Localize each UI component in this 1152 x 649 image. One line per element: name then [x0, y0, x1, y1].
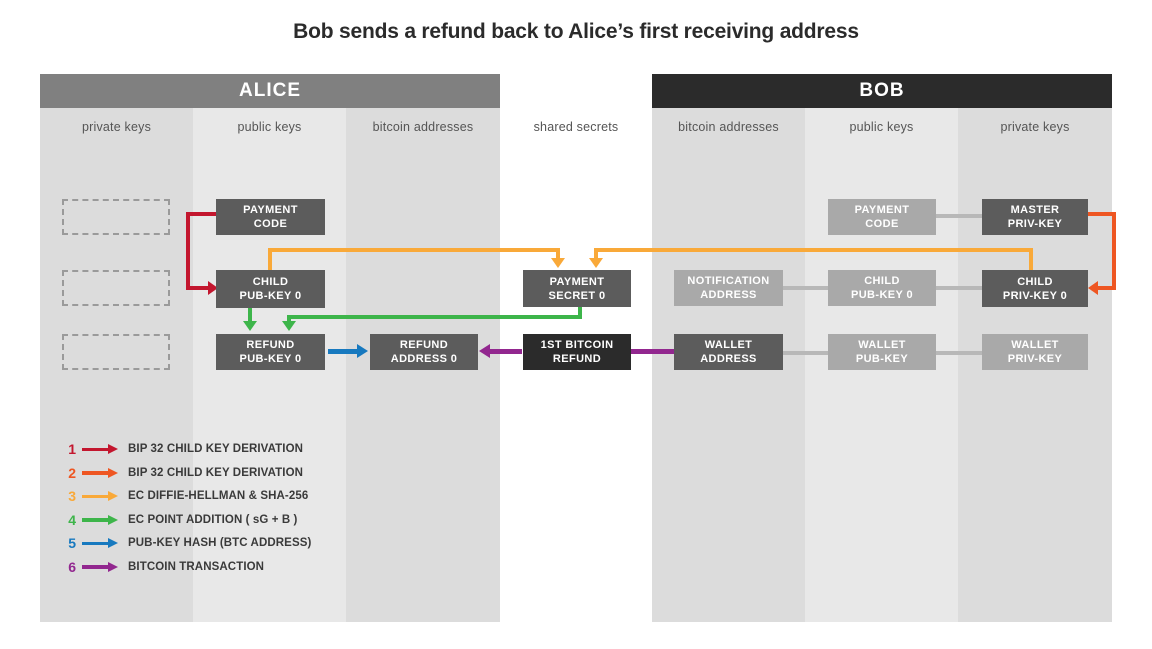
- arrow1-red-vertical: [186, 212, 190, 290]
- node-bob-wallet-pubkey-line1: WALLET: [858, 338, 906, 352]
- link-bob-walletpubkey-walletprivkey: [936, 351, 982, 355]
- node-bob-wallet-address-line1: WALLET: [705, 338, 753, 352]
- legend-row-3: 3EC DIFFIE-HELLMAN & SHA-256: [62, 487, 308, 505]
- legend-arrow-icon: [82, 444, 120, 454]
- node-bob-wallet-address[interactable]: WALLET ADDRESS: [674, 334, 783, 370]
- arrow1-red-horizontal-top: [186, 212, 220, 216]
- link-bob-paymentcode-masterprivkey: [936, 214, 982, 218]
- legend-arrow-head: [108, 562, 118, 572]
- arrow2-orange-vertical: [1112, 212, 1116, 290]
- arrow1-red-horizontal-bottom: [186, 286, 210, 290]
- legend-row-6: 6BITCOIN TRANSACTION: [62, 558, 264, 576]
- link-bob-childpubkey-childprivkey: [936, 286, 982, 290]
- legend-label: EC DIFFIE-HELLMAN & SHA-256: [128, 490, 308, 502]
- node-bob-master-privkey-line2: PRIV-KEY: [1008, 217, 1063, 231]
- node-alice-child-pubkey[interactable]: CHILD PUB-KEY 0: [216, 270, 325, 308]
- node-first-bitcoin-refund-line2: REFUND: [553, 352, 601, 366]
- arrow2-orange-horizontal-bottom: [1098, 286, 1116, 290]
- arrow6-purple-shaft-right: [628, 349, 674, 354]
- node-bob-wallet-privkey[interactable]: WALLET PRIV-KEY: [982, 334, 1088, 370]
- legend-row-2: 2BIP 32 CHILD KEY DERIVATION: [62, 464, 303, 482]
- legend-label: BITCOIN TRANSACTION: [128, 561, 264, 573]
- owner-header-alice: ALICE: [40, 74, 500, 108]
- link-bob-notification-childpubkey: [783, 286, 829, 290]
- arrow4b-green-horizontal: [287, 315, 582, 319]
- legend-arrow-head: [108, 444, 118, 454]
- legend-arrow-head: [108, 491, 118, 501]
- legend-arrow-head: [108, 515, 118, 525]
- placeholder-alice-private-row1: [62, 199, 170, 235]
- column-caption-bob-private: private keys: [958, 120, 1112, 134]
- link-bob-walletaddress-walletpubkey: [783, 351, 829, 355]
- arrow3b-amber-head: [589, 258, 603, 268]
- node-first-bitcoin-refund-line1: 1ST BITCOIN: [541, 338, 614, 352]
- node-alice-child-pubkey-line1: CHILD: [253, 275, 289, 289]
- node-alice-refund-address-line2: ADDRESS 0: [391, 352, 458, 366]
- legend-number: 6: [62, 559, 76, 575]
- arrow5-blue-shaft: [328, 349, 360, 354]
- node-bob-wallet-privkey-line2: PRIV-KEY: [1008, 352, 1063, 366]
- placeholder-alice-private-row3: [62, 334, 170, 370]
- legend-label: BIP 32 CHILD KEY DERIVATION: [128, 467, 303, 479]
- owner-label-alice: ALICE: [239, 80, 301, 102]
- legend-arrow-icon: [82, 562, 120, 572]
- node-bob-notification-address-line1: NOTIFICATION: [687, 274, 769, 288]
- column-caption-bob-addresses: bitcoin addresses: [652, 120, 805, 134]
- legend-arrow-icon: [82, 468, 120, 478]
- node-bob-notification-address-line2: ADDRESS: [700, 288, 757, 302]
- legend-arrow-head: [108, 468, 118, 478]
- arrow3a-amber-horizontal: [268, 248, 560, 252]
- node-alice-payment-code[interactable]: PAYMENT CODE: [216, 199, 325, 235]
- node-bob-master-privkey-line1: MASTER: [1011, 203, 1060, 217]
- legend-row-4: 4EC POINT ADDITION ( sG + B ): [62, 511, 297, 529]
- node-bob-payment-code-line2: CODE: [865, 217, 898, 231]
- node-bob-child-pubkey-line2: PUB-KEY 0: [851, 288, 913, 302]
- node-bob-notification-address[interactable]: NOTIFICATION ADDRESS: [674, 270, 783, 306]
- arrow2-orange-head: [1088, 281, 1098, 295]
- node-bob-payment-code-line1: PAYMENT: [855, 203, 910, 217]
- legend-arrow-shaft: [82, 448, 110, 452]
- legend-row-1: 1BIP 32 CHILD KEY DERIVATION: [62, 440, 303, 458]
- owner-label-bob: BOB: [859, 80, 904, 102]
- legend-arrow-icon: [82, 515, 120, 525]
- node-alice-refund-pubkey-line2: PUB-KEY 0: [239, 352, 301, 366]
- arrow4a-green-head: [243, 321, 257, 331]
- column-caption-shared-secrets: shared secrets: [500, 120, 652, 134]
- node-bob-wallet-address-line2: ADDRESS: [700, 352, 757, 366]
- legend-arrow-shaft: [82, 565, 110, 569]
- legend-label: BIP 32 CHILD KEY DERIVATION: [128, 443, 303, 455]
- node-alice-refund-address[interactable]: REFUND ADDRESS 0: [370, 334, 478, 370]
- node-alice-refund-address-line1: REFUND: [400, 338, 448, 352]
- node-bob-wallet-privkey-line1: WALLET: [1011, 338, 1059, 352]
- column-caption-alice-addresses: bitcoin addresses: [346, 120, 500, 134]
- column-caption-alice-public: public keys: [193, 120, 346, 134]
- arrow6-purple-head: [479, 344, 490, 358]
- node-alice-payment-code-line1: PAYMENT: [243, 203, 298, 217]
- node-payment-secret[interactable]: PAYMENT SECRET 0: [523, 270, 631, 307]
- page-title: Bob sends a refund back to Alice’s first…: [0, 20, 1152, 44]
- node-bob-child-pubkey-line1: CHILD: [864, 274, 900, 288]
- owner-header-bob: BOB: [652, 74, 1112, 108]
- arrow6-purple-shaft-left: [490, 349, 522, 354]
- node-alice-refund-pubkey[interactable]: REFUND PUB-KEY 0: [216, 334, 325, 370]
- arrow4b-green-head: [282, 321, 296, 331]
- node-alice-payment-code-line2: CODE: [254, 217, 287, 231]
- node-bob-child-privkey-line2: PRIV-KEY 0: [1003, 289, 1067, 303]
- node-payment-secret-line2: SECRET 0: [549, 289, 606, 303]
- legend-arrow-shaft: [82, 518, 110, 522]
- legend-number: 3: [62, 488, 76, 504]
- node-alice-refund-pubkey-line1: REFUND: [246, 338, 294, 352]
- column-caption-bob-public: public keys: [805, 120, 958, 134]
- node-bob-child-pubkey[interactable]: CHILD PUB-KEY 0: [828, 270, 936, 306]
- node-payment-secret-line1: PAYMENT: [550, 275, 605, 289]
- node-bob-payment-code[interactable]: PAYMENT CODE: [828, 199, 936, 235]
- legend-label: EC POINT ADDITION ( sG + B ): [128, 514, 297, 526]
- arrow3a-amber-head: [551, 258, 565, 268]
- column-caption-alice-private: private keys: [40, 120, 193, 134]
- legend-arrow-shaft: [82, 471, 110, 475]
- diagram-canvas: Bob sends a refund back to Alice’s first…: [0, 0, 1152, 649]
- node-bob-master-privkey[interactable]: MASTER PRIV-KEY: [982, 199, 1088, 235]
- legend-number: 1: [62, 441, 76, 457]
- legend-arrow-icon: [82, 491, 120, 501]
- legend-label: PUB-KEY HASH (BTC ADDRESS): [128, 537, 311, 549]
- legend-arrow-shaft: [82, 542, 110, 546]
- node-first-bitcoin-refund[interactable]: 1ST BITCOIN REFUND: [523, 334, 631, 370]
- legend-arrow-shaft: [82, 495, 110, 499]
- legend-arrow-head: [108, 538, 118, 548]
- legend-number: 2: [62, 465, 76, 481]
- arrow3b-amber-horizontal: [594, 248, 1033, 252]
- node-bob-child-privkey-line1: CHILD: [1017, 275, 1053, 289]
- arrow5-blue-head: [357, 344, 368, 358]
- placeholder-alice-private-row2: [62, 270, 170, 306]
- node-alice-child-pubkey-line2: PUB-KEY 0: [239, 289, 301, 303]
- legend-arrow-icon: [82, 538, 120, 548]
- legend-number: 4: [62, 512, 76, 528]
- legend-row-5: 5PUB-KEY HASH (BTC ADDRESS): [62, 534, 311, 552]
- legend-number: 5: [62, 535, 76, 551]
- node-bob-wallet-pubkey-line2: PUB-KEY: [856, 352, 908, 366]
- node-bob-wallet-pubkey[interactable]: WALLET PUB-KEY: [828, 334, 936, 370]
- node-bob-child-privkey[interactable]: CHILD PRIV-KEY 0: [982, 270, 1088, 307]
